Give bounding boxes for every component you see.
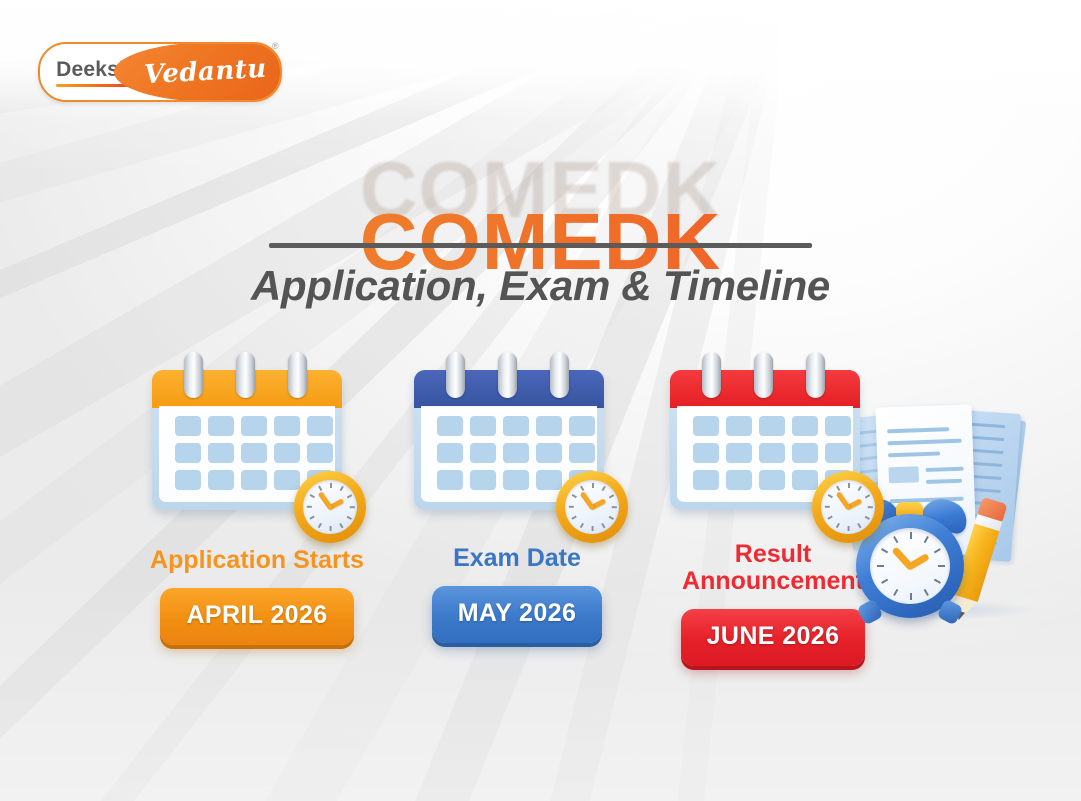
document-image-block xyxy=(888,466,919,483)
calendar-day-cell xyxy=(175,470,201,490)
calendar-day-cell xyxy=(241,470,267,490)
clock-tick xyxy=(580,486,584,491)
calendar-day-cell xyxy=(208,416,234,436)
calendar-ring-icon xyxy=(498,352,517,398)
calendar-clock-icon xyxy=(414,352,614,527)
clock-tick xyxy=(612,506,617,508)
calendar-day-cell xyxy=(759,443,785,463)
calendar-day-cell xyxy=(437,443,463,463)
calendar-day-cell xyxy=(726,470,752,490)
milestone-date-badge[interactable]: APRIL 2026 xyxy=(160,588,353,645)
clock-face xyxy=(565,480,619,534)
calendar-ring-icon xyxy=(184,352,203,398)
alarm-clock-tick xyxy=(910,532,912,539)
document-text-line xyxy=(888,451,940,457)
clock-tick xyxy=(340,486,344,491)
clock-icon xyxy=(812,471,884,543)
calendar-day-cell xyxy=(726,416,752,436)
poster-canvas: Deeksha Vedantu ® COMEDK COMEDK Applicat… xyxy=(0,0,1081,801)
calendar-day-cell xyxy=(693,443,719,463)
calendar-day-cell xyxy=(470,416,496,436)
alarm-clock-tick xyxy=(934,579,941,584)
clock-tick xyxy=(609,516,614,520)
calendar-day-cell xyxy=(307,443,333,463)
alarm-clock-tick xyxy=(881,579,888,584)
calendar-day-cell xyxy=(792,416,818,436)
clock-tick xyxy=(848,483,850,488)
clock-tick xyxy=(592,483,594,488)
calendar-day-cell xyxy=(307,416,333,436)
clock-tick xyxy=(318,486,322,491)
calendar-day-cell xyxy=(274,416,300,436)
clock-tick xyxy=(828,516,833,520)
clock-tick xyxy=(858,523,862,528)
calendar-ring-icon xyxy=(702,352,721,398)
calendar-day-cell xyxy=(437,416,463,436)
clock-tick xyxy=(836,523,840,528)
calendar-day-cell xyxy=(241,443,267,463)
clock-tick xyxy=(848,526,850,531)
alarm-clock-face xyxy=(870,528,950,604)
milestone-label: Application Starts xyxy=(142,547,372,574)
milestone-card-application-starts: Application Starts APRIL 2026 xyxy=(142,352,372,645)
page-subtitle: Application, Exam & Timeline xyxy=(0,262,1081,310)
document-text-line xyxy=(926,467,964,472)
calendar-ring-icon xyxy=(550,352,569,398)
document-text-line xyxy=(888,439,962,446)
clock-tick xyxy=(310,494,315,498)
alarm-clock-tick xyxy=(910,593,912,600)
calendar-clock-icon xyxy=(670,352,870,527)
clock-tick xyxy=(825,506,830,508)
alarm-clock-tick xyxy=(893,589,898,596)
calendar-day-cell xyxy=(503,470,529,490)
milestone-card-exam-date: Exam Date MAY 2026 xyxy=(402,352,632,643)
clock-tick xyxy=(828,494,833,498)
milestone-date-badge[interactable]: MAY 2026 xyxy=(432,586,603,643)
title-divider xyxy=(269,243,812,248)
clock-tick xyxy=(865,494,870,498)
alarm-clock-tick xyxy=(938,565,945,567)
calendar-day-cell xyxy=(726,443,752,463)
clock-tick xyxy=(592,526,594,531)
clock-tick xyxy=(602,523,606,528)
clock-tick xyxy=(340,523,344,528)
calendar-day-cell xyxy=(792,443,818,463)
clock-tick xyxy=(580,523,584,528)
calendar-day-cell xyxy=(241,416,267,436)
milestone-badge-row: MAY 2026 xyxy=(402,586,632,643)
clock-tick xyxy=(347,494,352,498)
clock-minute-hand xyxy=(580,491,596,510)
calendar-day-cell xyxy=(693,416,719,436)
document-text-line xyxy=(969,423,1005,429)
calendar-day-cell xyxy=(536,443,562,463)
calendar-day-cell xyxy=(825,416,851,436)
clock-tick xyxy=(868,506,873,508)
alarm-clock-tick xyxy=(881,548,888,553)
calendar-day-cell xyxy=(792,470,818,490)
document-text-line xyxy=(887,427,949,433)
calendar-ring-icon xyxy=(446,352,465,398)
calendar-ring-icon xyxy=(806,352,825,398)
document-text-line xyxy=(968,436,1004,442)
registered-trademark-icon: ® xyxy=(272,41,279,51)
calendar-ring-icon xyxy=(236,352,255,398)
calendar-day-cell xyxy=(274,470,300,490)
calendar-day-cell xyxy=(825,443,851,463)
calendar-day-cell xyxy=(503,443,529,463)
alarm-clock-tick xyxy=(924,536,929,543)
calendar-day-cell xyxy=(208,470,234,490)
calendar-day-cell xyxy=(175,443,201,463)
milestone-label: Exam Date xyxy=(402,545,632,572)
clock-tick xyxy=(865,516,870,520)
calendar-day-cell xyxy=(274,443,300,463)
calendar-day-cell xyxy=(208,443,234,463)
clock-tick xyxy=(836,486,840,491)
calendar-ring-icon xyxy=(288,352,307,398)
alarm-clock-tick xyxy=(893,536,898,543)
brand-logo[interactable]: Deeksha Vedantu xyxy=(38,42,282,102)
logo-vedantu-text: Vedantu xyxy=(143,54,267,90)
clock-tick xyxy=(858,486,862,491)
calendar-day-cell xyxy=(693,470,719,490)
clock-tick xyxy=(310,516,315,520)
calendar-day-cell xyxy=(470,443,496,463)
milestone-badge-row: APRIL 2026 xyxy=(142,588,372,645)
alarm-clock-tick xyxy=(877,565,884,567)
clock-icon xyxy=(556,471,628,543)
clock-icon xyxy=(294,471,366,543)
clock-tick xyxy=(330,526,332,531)
calendar-day-cell xyxy=(569,443,595,463)
clock-tick xyxy=(347,516,352,520)
clock-tick xyxy=(330,483,332,488)
clock-tick xyxy=(609,494,614,498)
calendar-day-cell xyxy=(569,416,595,436)
alarm-clock-tick xyxy=(934,548,941,553)
clock-face xyxy=(303,480,357,534)
clock-tick xyxy=(307,506,312,508)
alarm-leg-left xyxy=(856,598,883,625)
calendar-day-cell xyxy=(437,470,463,490)
calendar-day-cell xyxy=(759,470,785,490)
calendar-day-cell xyxy=(536,470,562,490)
calendar-day-cell xyxy=(175,416,201,436)
clock-tick xyxy=(569,506,574,508)
clock-tick xyxy=(350,506,355,508)
alarm-clock-tick xyxy=(924,589,929,596)
clock-minute-hand xyxy=(318,491,334,510)
clock-tick xyxy=(572,494,577,498)
calendar-clock-icon xyxy=(152,352,352,527)
clock-minute-hand xyxy=(836,491,852,510)
clock-tick xyxy=(572,516,577,520)
document-text-line xyxy=(926,479,962,484)
calendar-day-cell xyxy=(536,416,562,436)
alarm-minute-hand xyxy=(891,546,914,571)
milestone-date-badge[interactable]: JUNE 2026 xyxy=(681,609,866,666)
calendar-day-cell xyxy=(759,416,785,436)
clock-tick xyxy=(602,486,606,491)
clock-face xyxy=(821,480,875,534)
clock-tick xyxy=(318,523,322,528)
calendar-ring-icon xyxy=(754,352,773,398)
alarm-leg-right xyxy=(936,598,963,625)
calendar-day-cell xyxy=(503,416,529,436)
calendar-day-cell xyxy=(470,470,496,490)
